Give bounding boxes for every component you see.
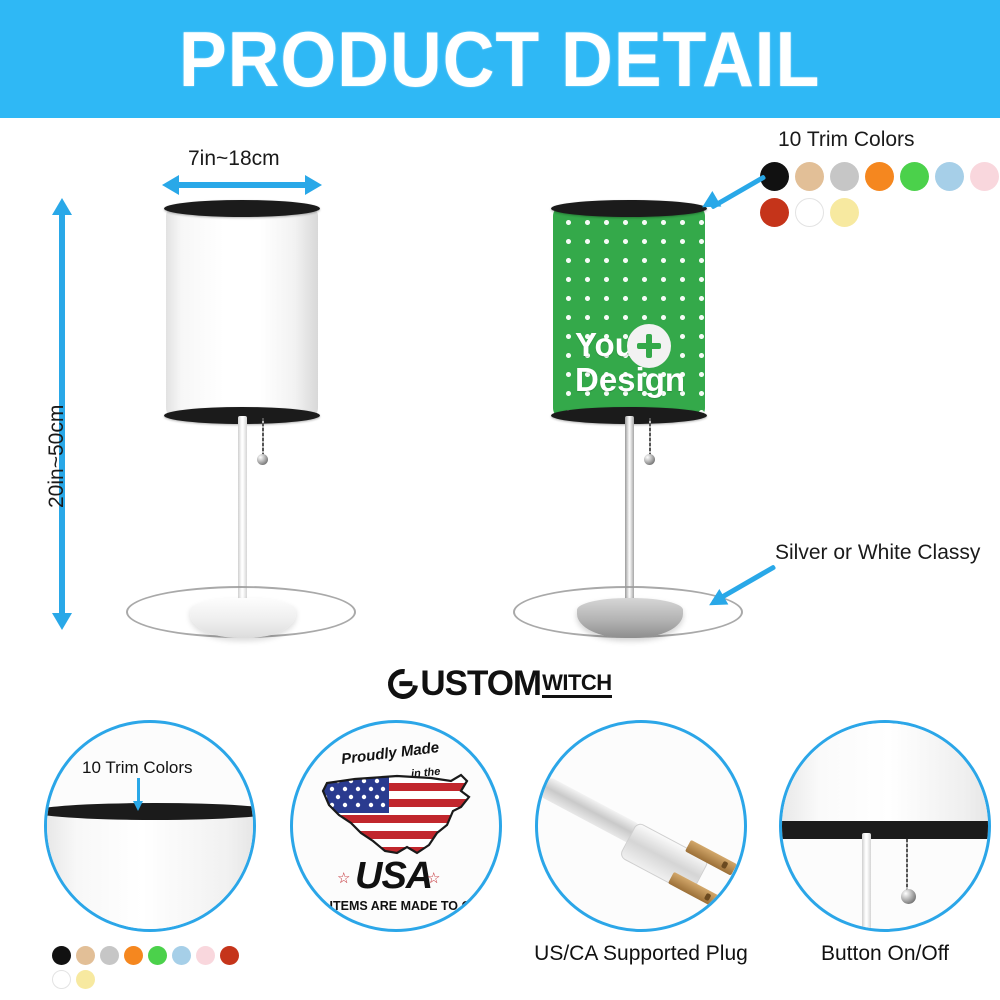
swatch-tan-2[interactable]	[76, 946, 95, 965]
lamp-white-shade-body	[166, 208, 318, 416]
swatch-orange[interactable]	[865, 162, 894, 191]
lamp-design-shade-body: Your Design	[553, 208, 705, 416]
feature-switch-chain-ball[interactable]	[901, 889, 916, 904]
plus-icon[interactable]	[627, 324, 671, 368]
trim-colors-callout-label: 10 Trim Colors	[778, 128, 915, 152]
lamp-design-trim-top	[551, 200, 707, 217]
swatch-light-blue[interactable]	[935, 162, 964, 191]
brand-c-icon	[382, 663, 424, 705]
usa-proudly-made-text: Proudly Made	[340, 739, 440, 768]
base-finish-pointer-arrow	[705, 558, 785, 608]
swatch-white-2[interactable]	[52, 970, 71, 989]
feature-switch-chain[interactable]	[906, 839, 908, 893]
swatch-black-2[interactable]	[52, 946, 71, 965]
swatch-green[interactable]	[900, 162, 929, 191]
brand-name: USTOM	[420, 664, 541, 704]
width-measure-label: 7in~18cm	[188, 147, 280, 171]
trim-colors-pointer-arrow	[703, 170, 773, 212]
feature-trim-shade-body	[44, 811, 256, 932]
feature-trim-colors-tip: 10 Trim Colors	[82, 758, 193, 778]
base-finish-label: Silver or White Classy	[775, 541, 980, 565]
feature-trim-black-band	[44, 803, 256, 820]
lamp-white-chain-ball[interactable]	[257, 454, 268, 465]
usa-star-left-icon: ☆	[337, 869, 350, 887]
usa-made-to-order-text: ALL ITEMS ARE MADE TO ORDER!	[302, 899, 502, 913]
page-title: PRODUCT DETAIL	[179, 20, 820, 98]
swatch-green-2[interactable]	[148, 946, 167, 965]
feature-switch-black-band	[779, 821, 991, 839]
feature-switch-shade-body	[779, 720, 991, 823]
trim-colors-palette-top	[760, 162, 1000, 234]
header-banner: PRODUCT DETAIL	[0, 0, 1000, 118]
swatch-gray-2[interactable]	[100, 946, 119, 965]
main-stage: 7in~18cm 20in~50cm	[0, 118, 1000, 678]
feature-plug-circle	[535, 720, 747, 932]
brand-suffix: WITCH	[542, 670, 612, 698]
swatch-pink-2[interactable]	[196, 946, 215, 965]
swatch-pink[interactable]	[970, 162, 999, 191]
brand-logo: USTOM WITCH	[0, 664, 1000, 704]
trim-colors-palette-bottom	[52, 946, 257, 994]
lamp-white-pull-chain[interactable]	[262, 418, 264, 456]
width-measure-arrow	[178, 182, 306, 188]
lamp-design-chain-ball[interactable]	[644, 454, 655, 465]
lamp-design-shade[interactable]: Your Design	[553, 208, 705, 416]
height-measure-label: 20in~50cm	[45, 405, 69, 508]
feature-trim-colors-circle	[44, 720, 256, 932]
feature-strip: 10 Trim Colors Proudly Made in the	[0, 714, 1000, 1000]
feature-made-in-usa-circle: Proudly Made in the	[290, 720, 502, 932]
swatch-tan[interactable]	[795, 162, 824, 191]
lamp-design-pull-chain[interactable]	[649, 418, 651, 456]
product-detail-page: PRODUCT DETAIL 7in~18cm 20in~50cm	[0, 0, 1000, 1000]
usa-map-flag-icon	[311, 767, 489, 869]
swatch-yellow[interactable]	[830, 198, 859, 227]
your-design-line2: Design	[575, 363, 705, 398]
lamp-white-shade	[166, 208, 318, 416]
lamp-white-trim-top	[164, 200, 320, 217]
feature-trim-down-arrow	[137, 778, 140, 802]
swatch-yellow-2[interactable]	[76, 970, 95, 989]
usa-big-text: USA	[355, 855, 432, 898]
feature-switch-circle	[779, 720, 991, 932]
swatch-gray[interactable]	[830, 162, 859, 191]
swatch-red-2[interactable]	[220, 946, 239, 965]
swatch-light-blue-2[interactable]	[172, 946, 191, 965]
feature-switch-caption: Button On/Off	[762, 942, 1000, 966]
swatch-white[interactable]	[795, 198, 824, 227]
feature-switch-pole	[862, 833, 871, 932]
usa-star-right-icon: ☆	[427, 869, 440, 887]
plug-cord	[539, 776, 641, 844]
feature-plug-caption: US/CA Supported Plug	[503, 942, 779, 966]
swatch-orange-2[interactable]	[124, 946, 143, 965]
